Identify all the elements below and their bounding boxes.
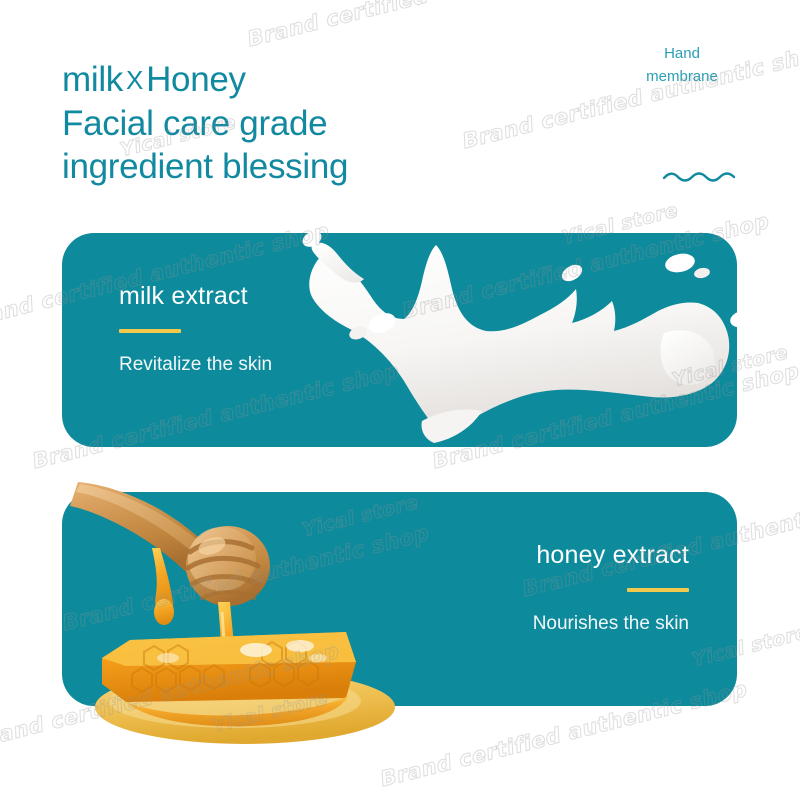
card-milk-text: milk extract Revitalize the skin bbox=[119, 281, 272, 377]
card-honey-title: honey extract bbox=[533, 540, 689, 570]
honey-dipper-honeycomb-image bbox=[60, 462, 420, 752]
headline-honey-word: Honey bbox=[146, 60, 246, 99]
card-milk-title: milk extract bbox=[119, 281, 272, 311]
card-honey-text: honey extract Nourishes the skin bbox=[533, 540, 689, 636]
headline-x-symbol: X bbox=[123, 65, 146, 95]
page-title: milkXHoney Facial care grade ingredient … bbox=[62, 58, 348, 188]
ingredient-card-milk: milk extract Revitalize the skin bbox=[62, 233, 737, 447]
card-honey-divider bbox=[627, 588, 689, 592]
headline-milk-word: milk bbox=[62, 60, 123, 99]
product-marketing-banner: milkXHoney Facial care grade ingredient … bbox=[0, 0, 800, 800]
watermark-brand: Brand certified authentic shop bbox=[245, 0, 617, 51]
wavy-line-icon bbox=[662, 168, 742, 186]
headline-line-3: ingredient blessing bbox=[62, 145, 348, 188]
milk-splash-image bbox=[272, 233, 737, 447]
card-milk-divider bbox=[119, 329, 181, 333]
ingredient-card-honey: honey extract Nourishes the skin bbox=[62, 492, 737, 706]
card-milk-subtitle: Revitalize the skin bbox=[119, 353, 272, 377]
headline-line-1: milkXHoney bbox=[62, 58, 348, 102]
corner-label-line-2: membrane bbox=[622, 65, 742, 88]
headline-line-2: Facial care grade bbox=[62, 102, 348, 145]
card-honey-subtitle: Nourishes the skin bbox=[533, 612, 689, 636]
corner-label: Hand membrane bbox=[622, 42, 742, 88]
card-milk-clip: milk extract Revitalize the skin bbox=[62, 233, 737, 447]
corner-label-line-1: Hand bbox=[622, 42, 742, 65]
